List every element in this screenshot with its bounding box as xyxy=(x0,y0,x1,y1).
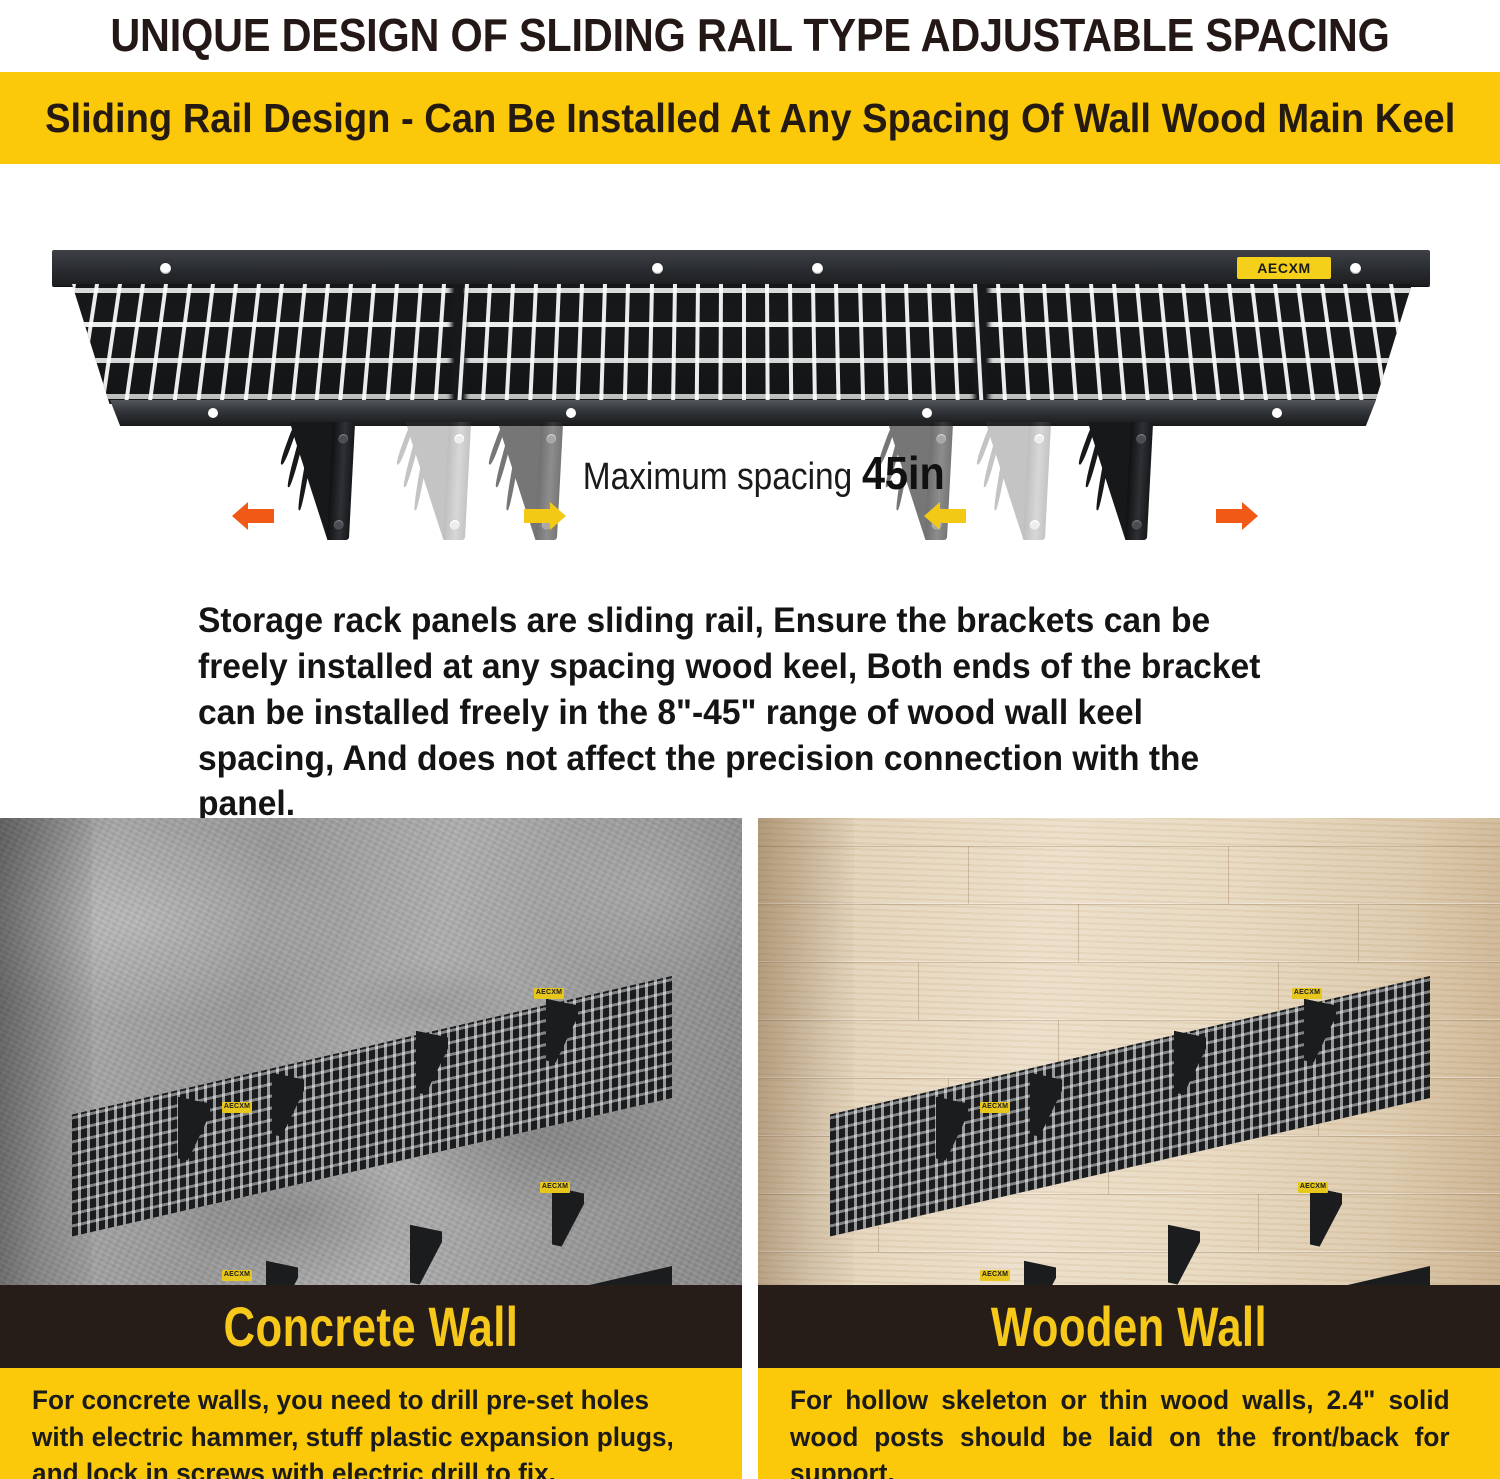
wooden-caption-body: For hollow skeleton or thin wood walls, … xyxy=(758,1368,1500,1479)
arrow-left-inner-right-icon xyxy=(924,498,966,534)
arrow-right-outer-right-icon xyxy=(1216,498,1258,534)
hero-illustration: AECXM xyxy=(0,170,1500,590)
photo-concrete-wall: AECXM AECXM AECXM AECXM xyxy=(0,818,742,1285)
wooden-caption-title: Wooden Wall xyxy=(991,1294,1267,1359)
shelf-upper-badge-left: AECXM xyxy=(980,1102,1010,1113)
shelf-upper-badge-left: AECXM xyxy=(222,1102,252,1113)
concrete-caption-body: For concrete walls, you need to drill pr… xyxy=(0,1368,742,1479)
arrow-left-outer-left-icon xyxy=(232,498,274,534)
panel-wooden-wall: AECXM AECXM AECXM AECXM Wooden Wall For … xyxy=(758,818,1500,1479)
mount-hole xyxy=(652,263,663,274)
shelf-lower-badge-right: AECXM xyxy=(540,1182,570,1193)
panel-concrete-wall: AECXM AECXM AECXM AECXM Concrete Wall Fo… xyxy=(0,818,742,1479)
arrow-right-inner-left-icon xyxy=(524,498,566,534)
wooden-caption-titlebar: Wooden Wall xyxy=(758,1285,1500,1368)
concrete-caption-titlebar: Concrete Wall xyxy=(0,1285,742,1368)
shelf-lower-badge-right: AECXM xyxy=(1298,1182,1328,1193)
concrete-caption-text: For concrete walls, you need to drill pr… xyxy=(32,1382,692,1479)
max-spacing-callout: Maximum spacing45in xyxy=(0,446,1500,500)
max-spacing-value: 45in xyxy=(862,446,945,500)
mount-hole xyxy=(812,263,823,274)
shelf-lower-badge-left: AECXM xyxy=(980,1270,1010,1281)
subtitle-text: Sliding Rail Design - Can Be Installed A… xyxy=(45,95,1455,142)
shelf-upper-badge-right: AECXM xyxy=(1292,988,1322,999)
description-paragraph: Storage rack panels are sliding rail, En… xyxy=(198,598,1281,827)
page-title: UNIQUE DESIGN OF SLIDING RAIL TYPE ADJUS… xyxy=(75,2,1425,68)
concrete-caption-title: Concrete Wall xyxy=(224,1294,519,1359)
mount-hole xyxy=(1350,263,1361,274)
shelf-lower-badge-left: AECXM xyxy=(222,1270,252,1281)
shelf-wire-deck xyxy=(72,284,1412,404)
wooden-caption-text: For hollow skeleton or thin wood walls, … xyxy=(790,1382,1450,1479)
shelf-back-rail: AECXM xyxy=(52,250,1430,286)
installation-panels: AECXM AECXM AECXM AECXM Concrete Wall Fo… xyxy=(0,818,1500,1479)
photo-wooden-wall: AECXM AECXM AECXM AECXM xyxy=(758,818,1500,1285)
subtitle-banner: Sliding Rail Design - Can Be Installed A… xyxy=(0,72,1500,164)
brand-badge: AECXM xyxy=(1237,257,1331,279)
shelf-upper-badge-right: AECXM xyxy=(534,988,564,999)
max-spacing-label: Maximum spacing xyxy=(583,456,852,499)
mount-hole xyxy=(160,263,171,274)
